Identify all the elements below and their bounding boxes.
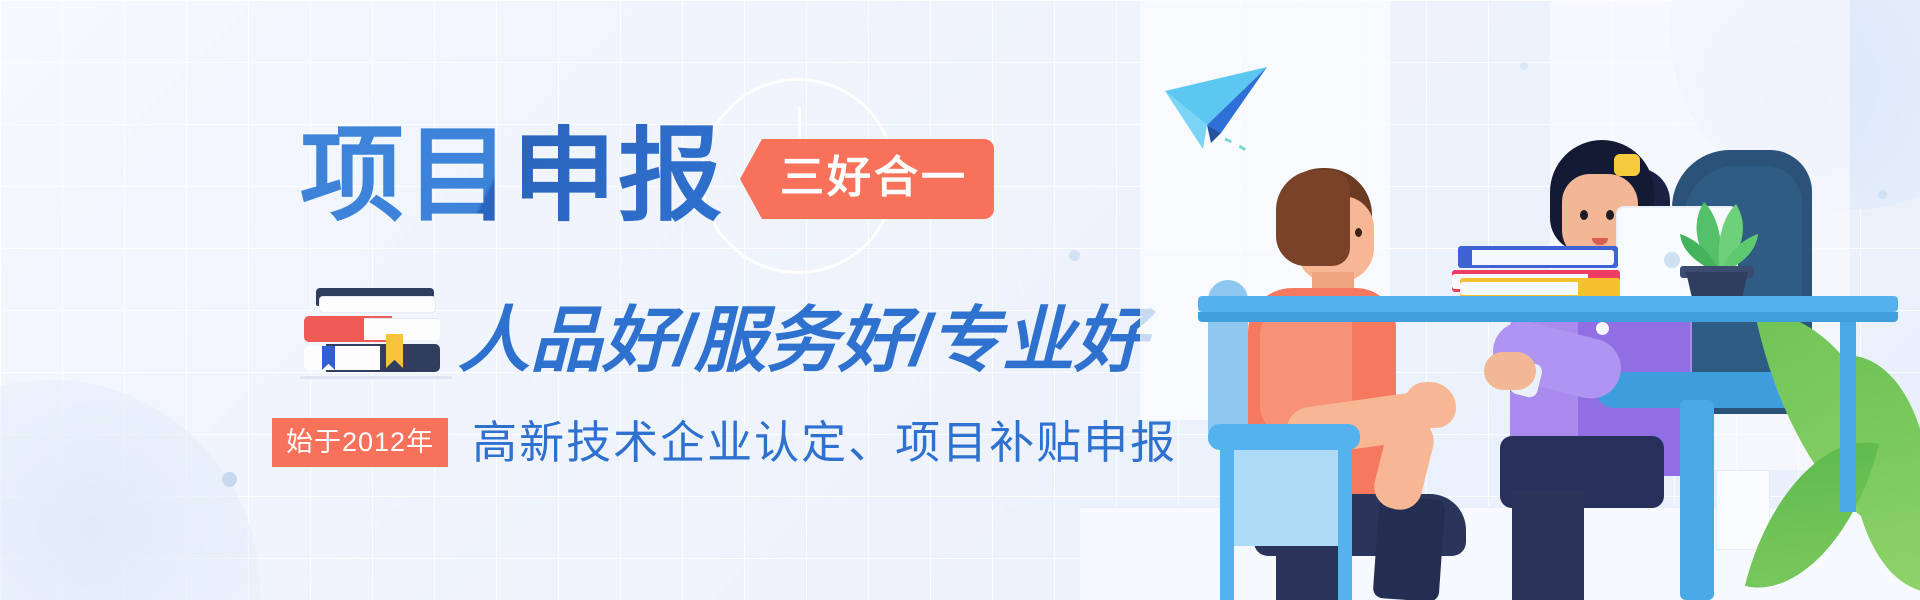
- plant-foliage-icon: [1676, 196, 1762, 276]
- office-chair-column: [1680, 400, 1714, 600]
- hair-tie: [1614, 154, 1640, 176]
- tagline: 高新技术企业认定、项目补贴申报: [472, 420, 1177, 465]
- hand: [1404, 382, 1456, 428]
- subheadline: 人品好/服务好/专业好: [458, 304, 1146, 378]
- eye: [1580, 210, 1588, 220]
- eye: [1606, 210, 1614, 220]
- paper-plane-icon: [1163, 63, 1283, 153]
- hair-front: [1276, 170, 1350, 266]
- page-title: 项目申报: [300, 124, 724, 228]
- status-badge: 三好合一: [740, 139, 994, 219]
- leg: [1373, 496, 1446, 600]
- banner-copy: 项目申报 三好合一 人品好/服务好/专业好 始于2012年 高新技术企业认定、项…: [0, 0, 1180, 600]
- book-stack-icon: [300, 282, 440, 374]
- subheadline-row: 人品好/服务好/专业好: [300, 282, 1146, 378]
- eye: [1355, 228, 1362, 237]
- desk-surface: [1198, 296, 1898, 312]
- promo-banner: 项目申报 三好合一 人品好/服务好/专业好 始于2012年 高新技术企业认定、项…: [0, 0, 1920, 600]
- desk-leg: [1840, 322, 1856, 512]
- chair-leg: [1220, 444, 1234, 600]
- chair-leg: [1338, 444, 1352, 600]
- year-badge: 始于2012年: [272, 418, 448, 467]
- office-illustration: [1080, 0, 1920, 600]
- hand: [1484, 352, 1536, 390]
- desk-book-pages: [1460, 282, 1578, 295]
- desk-edge: [1198, 312, 1898, 322]
- desk-book-pages: [1472, 250, 1614, 265]
- button: [1596, 322, 1609, 335]
- tagline-row: 始于2012年 高新技术企业认定、项目补贴申报: [272, 418, 1177, 467]
- legs-lower: [1512, 490, 1584, 600]
- headline-row: 项目申报 三好合一: [300, 124, 994, 228]
- chair-base: [1226, 450, 1344, 546]
